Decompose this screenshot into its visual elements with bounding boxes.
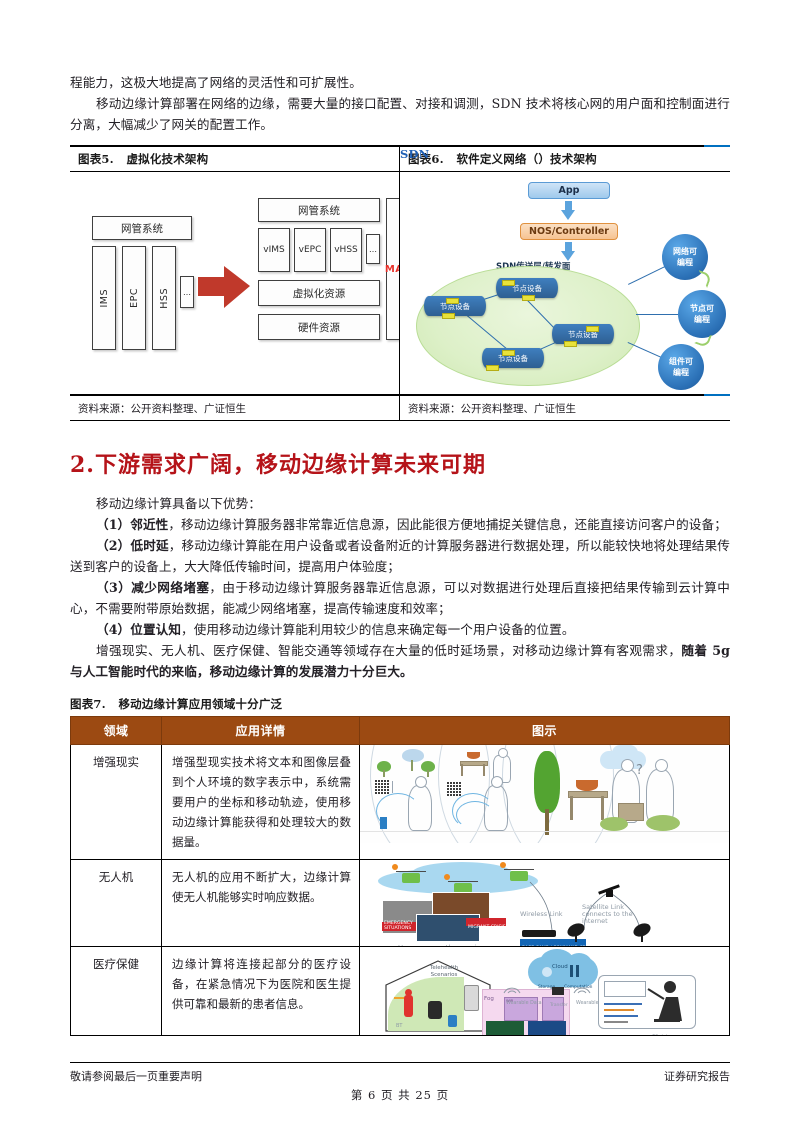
nfv-vhss-box: vHSS bbox=[330, 228, 362, 272]
sdn-controller-label: NOS/Controller bbox=[529, 226, 609, 237]
fog-label: Fog bbox=[484, 989, 494, 1009]
nfv-vhss-label: vHSS bbox=[334, 245, 358, 255]
table-7-title: 移动边缘计算应用领域十分广泛 bbox=[118, 697, 282, 711]
sdn-node-chip bbox=[502, 350, 515, 356]
red-transform-arrow bbox=[198, 264, 252, 312]
clinician-label: Clinician bbox=[652, 1027, 673, 1035]
ar-person-head bbox=[655, 759, 668, 772]
nfv-hss-label: HSS bbox=[159, 288, 170, 309]
page-footer: 敬请参阅最后一页重要声明 证券研究报告 第 6 页 共 25 页 bbox=[70, 1062, 730, 1103]
sdn-node-left: 节点设备 bbox=[424, 296, 486, 316]
smartphone-device bbox=[464, 985, 479, 1011]
sdn-arrow-down-1 bbox=[561, 210, 575, 220]
ar-table-leg-2b bbox=[483, 764, 485, 776]
smartwatch-device bbox=[428, 1001, 442, 1019]
chart-bar-4 bbox=[604, 1021, 628, 1023]
advantage-2-text: ，移动边缘计算能在用户设备或者设备附近的计算服务器进行数据处理，所以能较快地将处… bbox=[70, 538, 730, 574]
ground-dish-1 bbox=[566, 922, 592, 942]
chart-bar-3 bbox=[604, 1015, 638, 1017]
sdn-node-top: 节点设备 bbox=[496, 278, 558, 298]
ar-bowl-3 bbox=[576, 780, 598, 791]
advantage-2-name: 低时延 bbox=[130, 538, 168, 553]
telehealth-scenarios-label: Telehealth Scenarios bbox=[416, 965, 472, 979]
advantages-closing-normal: 增强现实、无人机、医疗保健、智能交通等领域存在大量的低时延场景，对移动边缘计算有… bbox=[96, 643, 681, 658]
wifi-band-1 bbox=[394, 997, 404, 999]
sdn-controller-box: NOS/Controller bbox=[520, 223, 618, 240]
ar-table-leg-3a bbox=[570, 796, 573, 820]
intro-line-2: 移动边缘计算部署在网络的边缘，需要大量的接口配置、对接和调测，SDN 技术将核心… bbox=[70, 93, 730, 135]
row-1-detail: 增强型现实技术将文本和图像层叠到个人环境的数字表示中，系统需要用户的坐标和移动轨… bbox=[162, 745, 360, 860]
ar-person-head bbox=[621, 759, 634, 772]
cloud-transfer-icon bbox=[552, 987, 564, 995]
ar-tree-trunk bbox=[411, 760, 413, 771]
figure-5-source: 资料来源：公开资料整理、广证恒生 bbox=[70, 396, 399, 420]
table-7-caption: 图表7. 移动边缘计算应用领域十分广泛 bbox=[70, 696, 730, 712]
base-station-router bbox=[522, 930, 556, 937]
sdn-node-right: 节点设备 bbox=[552, 324, 614, 344]
advantage-item-4: （4）位置认知，使用移动边缘计算能利用较少的信息来确定每一个用户设备的位置。 bbox=[70, 619, 730, 640]
ar-bush-1 bbox=[600, 817, 628, 831]
figure-bottom-rule bbox=[70, 394, 730, 396]
cloud-transfer-label: Transfer bbox=[550, 996, 568, 1016]
cloud-label: Cloud bbox=[552, 957, 568, 977]
sdn-node-chip bbox=[486, 365, 499, 371]
chart-bar-1 bbox=[604, 1003, 642, 1005]
cloud-computation-icon bbox=[570, 965, 573, 977]
advantage-4-name: 位置认知 bbox=[130, 622, 181, 637]
row-1-domain: 增强现实 bbox=[71, 745, 162, 860]
chart-bar-2 bbox=[604, 1009, 634, 1011]
advantages-closing: 增强现实、无人机、医疗保健、智能交通等领域存在大量的低时延场景，对移动边缘计算有… bbox=[70, 640, 730, 682]
nfv-ims-label: IMS bbox=[99, 289, 110, 308]
row-3-domain: 医疗保健 bbox=[71, 947, 162, 1036]
nfv-left-col-hss: HSS bbox=[152, 246, 176, 350]
ar-link-curve-3 bbox=[456, 801, 494, 829]
nfv-vims-label: vIMS bbox=[263, 245, 284, 255]
row-2-detail: 无人机的应用不断扩大，边缘计算使无人机能够实时响应数据。 bbox=[162, 860, 360, 947]
ar-table-leg-2a bbox=[461, 764, 463, 776]
nfv-right-nms-box: 网管系统 bbox=[258, 198, 380, 222]
figure-6-body: App NOS/Controller SDN传送层/转发面 bbox=[400, 172, 730, 394]
sdn-node-chip bbox=[502, 280, 515, 286]
col-header-image: 图示 bbox=[360, 717, 730, 745]
col-header-detail: 应用详情 bbox=[162, 717, 360, 745]
document-page: 程能力，这极大地提高了网络的灵活性和可扩展性。 移动边缘计算部署在网络的边缘，需… bbox=[0, 0, 793, 1122]
ar-device-body-1 bbox=[392, 781, 393, 793]
table-row: 医疗保健 边缘计算将连接起部分的医疗设备，在紧急情况下为医院和医生提供可靠和最新… bbox=[71, 947, 730, 1036]
ar-question-mark-icon: ? bbox=[636, 761, 643, 781]
figure-6: 图表6. 软件定义网络（SDN）技术架构 App NOS/Co bbox=[400, 147, 730, 394]
advantage-4-text: ，使用移动边缘计算能利用较少的信息来确定每一个用户设备的位置。 bbox=[181, 622, 575, 637]
ground-dish-2 bbox=[632, 922, 658, 942]
ar-tree-large bbox=[530, 751, 564, 835]
figure-5: 图表5. 虚拟化技术架构 网管系统 IMS bbox=[70, 147, 400, 394]
sdn-arrow-stem-2 bbox=[565, 242, 572, 251]
footer-report-type: 证券研究报告 bbox=[664, 1068, 730, 1084]
ar-tree-trunk bbox=[383, 770, 385, 777]
nfv-left-col-more: … bbox=[180, 276, 194, 308]
ar-bush-2 bbox=[646, 815, 680, 831]
wearable-data-label: BT bbox=[396, 1023, 430, 1029]
sdn-node-chip bbox=[586, 326, 599, 332]
ar-bowl-2 bbox=[467, 752, 480, 759]
sdn-node-bottom: 节点设备 bbox=[482, 348, 544, 368]
figure-6-source-cell: 资料来源：公开资料整理、广证恒生 bbox=[400, 396, 730, 420]
nfv-hardware-resource-label: 硬件资源 bbox=[298, 320, 340, 335]
figure-5-label: 图表5. bbox=[78, 152, 114, 166]
blue-accent-mark-bottom bbox=[704, 394, 730, 396]
figure-5-title: 图表5. 虚拟化技术架构 bbox=[70, 147, 399, 171]
section-heading: 2.下游需求广阔，移动边缘计算未来可期 bbox=[70, 447, 730, 479]
ar-person-head bbox=[491, 776, 503, 788]
intro-line-1: 程能力，这极大地提高了网络的灵活性和可扩展性。 bbox=[70, 72, 730, 93]
nfv-vims-box: vIMS bbox=[258, 228, 290, 272]
advantages-block: 移动边缘计算具备以下优势： （1）邻近性，移动边缘计算服务器非常靠近信息源，因此… bbox=[70, 493, 730, 682]
col-header-domain: 领域 bbox=[71, 717, 162, 745]
advantage-1-num: （1） bbox=[96, 517, 130, 532]
sdn-node-chip bbox=[442, 313, 455, 319]
nfv-left-nms-label: 网管系统 bbox=[121, 221, 163, 236]
sdn-architecture-diagram: App NOS/Controller SDN传送层/转发面 bbox=[400, 172, 730, 394]
page-content: 程能力，这极大地提高了网络的灵活性和可扩展性。 移动边缘计算部署在网络的边缘，需… bbox=[70, 72, 730, 1036]
footer-disclaimer: 敬请参阅最后一页重要声明 bbox=[70, 1068, 202, 1084]
footer-row: 敬请参阅最后一页重要声明 证券研究报告 bbox=[70, 1063, 730, 1084]
nfv-epc-label: EPC bbox=[129, 288, 140, 308]
row-3-image-cell: Telehealth Scenarios High Priority Low P… bbox=[360, 947, 730, 1036]
wifi-arc-right-icon bbox=[572, 981, 592, 995]
advantage-item-1: （1）邻近性，移动边缘计算服务器非常靠近信息源，因此能很方便地捕捉关键信息，还能… bbox=[70, 514, 730, 535]
advantage-item-2: （2）低时延，移动边缘计算能在用户设备或者设备附近的计算服务器进行数据处理，所以… bbox=[70, 535, 730, 577]
advantage-2-num: （2） bbox=[96, 538, 130, 553]
sdn-feature-line-mid bbox=[636, 314, 680, 315]
sdn-node-chip bbox=[564, 341, 577, 347]
ar-ground-line bbox=[360, 831, 729, 832]
nfv-more-label: … bbox=[183, 288, 191, 297]
nfv-virtual-resource-label: 虚拟化资源 bbox=[293, 286, 346, 301]
edge-board-1 bbox=[486, 1021, 524, 1035]
row-1-image-cell: ? bbox=[360, 745, 730, 860]
row-3-detail: 边缘计算将连接起部分的医疗设备，在紧急情况下为医院和医生提供可靠和最新的患者信息… bbox=[162, 947, 360, 1036]
ar-tree-2 bbox=[376, 761, 392, 777]
cloud-storage-icon bbox=[542, 967, 552, 977]
figure-sources-row: 资料来源：公开资料整理、广证恒生 资料来源：公开资料整理、广证恒生 bbox=[70, 396, 730, 420]
nfv-hardware-resource-box: 硬件资源 bbox=[258, 314, 380, 340]
table-row: 无人机 无人机的应用不断扩大，边缘计算使无人机能够实时响应数据。 Cloudro… bbox=[71, 860, 730, 947]
drone-wireless-link-label: Wireless Link bbox=[520, 904, 563, 924]
application-domains-table: 领域 应用详情 图示 增强现实 增强型现实技术将文本和图像层叠到个人环境的数字表… bbox=[70, 716, 730, 1036]
nfv-mano-label: MANO bbox=[385, 264, 399, 275]
advantage-4-num: （4） bbox=[96, 622, 130, 637]
augmented-reality-illustration: ? bbox=[360, 745, 729, 843]
ar-table-leg-3b bbox=[601, 796, 604, 820]
wifi-arc-left-icon bbox=[502, 981, 522, 995]
nfv-left-col-epc: EPC bbox=[122, 246, 146, 350]
sdn-feature-component-programmable: 组件可 编程 bbox=[658, 344, 704, 390]
nfv-virtual-resource-box: 虚拟化资源 bbox=[258, 280, 380, 306]
nfv-left-col-ims: IMS bbox=[92, 246, 116, 350]
ar-person-head bbox=[498, 748, 508, 758]
figure-5-source-cell: 资料来源：公开资料整理、广证恒生 bbox=[70, 396, 400, 420]
cloud-computation-icon-b bbox=[576, 965, 579, 977]
advantage-3-num: （3） bbox=[96, 580, 131, 595]
patient-figure bbox=[404, 995, 413, 1017]
figure-block-5-6: 图表5. 虚拟化技术架构 网管系统 IMS bbox=[70, 145, 730, 421]
ar-mobile-device-1 bbox=[380, 817, 387, 829]
nfv-right-nms-label: 网管系统 bbox=[298, 203, 340, 218]
figure-5-title-text: 虚拟化技术架构 bbox=[126, 152, 208, 166]
figure-6-source: 资料来源：公开资料整理、广证恒生 bbox=[400, 396, 730, 420]
clinician-figure bbox=[646, 977, 690, 1029]
sdn-arrow-stem-1 bbox=[565, 201, 572, 210]
table-7-label: 图表7. bbox=[70, 697, 106, 711]
ar-person-head bbox=[415, 776, 427, 788]
drone-network-illustration: Cloudrone bbox=[360, 860, 729, 946]
ar-device-screen-2 bbox=[446, 781, 462, 797]
nfv-architecture-diagram: 网管系统 IMS EPC HSS bbox=[70, 172, 399, 394]
sdn-node-chip bbox=[446, 298, 459, 304]
sdn-green-hook-upper-icon bbox=[694, 270, 712, 288]
advantage-1-text: ，移动边缘计算服务器非常靠近信息源，因此能很方便地捕捉关键信息，还能直接访问客户… bbox=[168, 517, 727, 532]
ar-tree-3 bbox=[420, 761, 436, 777]
figure-5-body: 网管系统 IMS EPC HSS bbox=[70, 172, 399, 394]
wifi-label-left: Wearable Data bbox=[506, 994, 542, 1014]
advantage-3-name: 减少网络堵塞 bbox=[131, 580, 209, 595]
ar-device-screen-1 bbox=[374, 779, 390, 795]
ecg-waveform bbox=[604, 981, 646, 997]
nfv-vnf-more-box: … bbox=[366, 234, 380, 264]
sdn-app-label: App bbox=[559, 185, 580, 196]
nfv-vnf-more-label: … bbox=[369, 245, 377, 254]
nfv-vepc-label: vEPC bbox=[299, 245, 322, 255]
figure-closing-rule bbox=[70, 420, 730, 421]
footer-page-number: 第 6 页 共 25 页 bbox=[70, 1084, 730, 1103]
satellite-body bbox=[606, 890, 613, 897]
table-header-row: 领域 应用详情 图示 bbox=[71, 717, 730, 745]
nfv-left-nms-box: 网管系统 bbox=[92, 216, 192, 240]
figure-6-title: 图表6. 软件定义网络（SDN）技术架构 bbox=[400, 147, 730, 171]
patient-head bbox=[405, 989, 412, 996]
advantage-item-3: （3）减少网络堵塞，由于移动边缘计算服务器靠近信息源，可以对数据进行处理后直接把… bbox=[70, 577, 730, 619]
advantages-lead: 移动边缘计算具备以下优势： bbox=[70, 493, 730, 514]
sdn-app-box: App bbox=[528, 182, 610, 199]
ar-tree-crown bbox=[534, 751, 560, 813]
row-2-domain: 无人机 bbox=[71, 860, 162, 947]
ar-tree-trunk bbox=[427, 770, 429, 777]
nfv-vepc-box: vEPC bbox=[294, 228, 326, 272]
bluetooth-node-icon bbox=[448, 1015, 457, 1027]
table-row: 增强现实 增强型现实技术将文本和图像层叠到个人环境的数字表示中，系统需要用户的坐… bbox=[71, 745, 730, 860]
advantage-1-name: 邻近性 bbox=[130, 517, 168, 532]
sdn-node-chip bbox=[522, 295, 535, 301]
sdn-feature-line-top bbox=[628, 265, 668, 285]
row-2-image-cell: Cloudrone bbox=[360, 860, 730, 947]
nfv-mano-box: MANO bbox=[386, 198, 399, 340]
edge-board-2 bbox=[528, 1021, 566, 1035]
healthcare-iot-illustration: Telehealth Scenarios High Priority Low P… bbox=[360, 947, 729, 1035]
